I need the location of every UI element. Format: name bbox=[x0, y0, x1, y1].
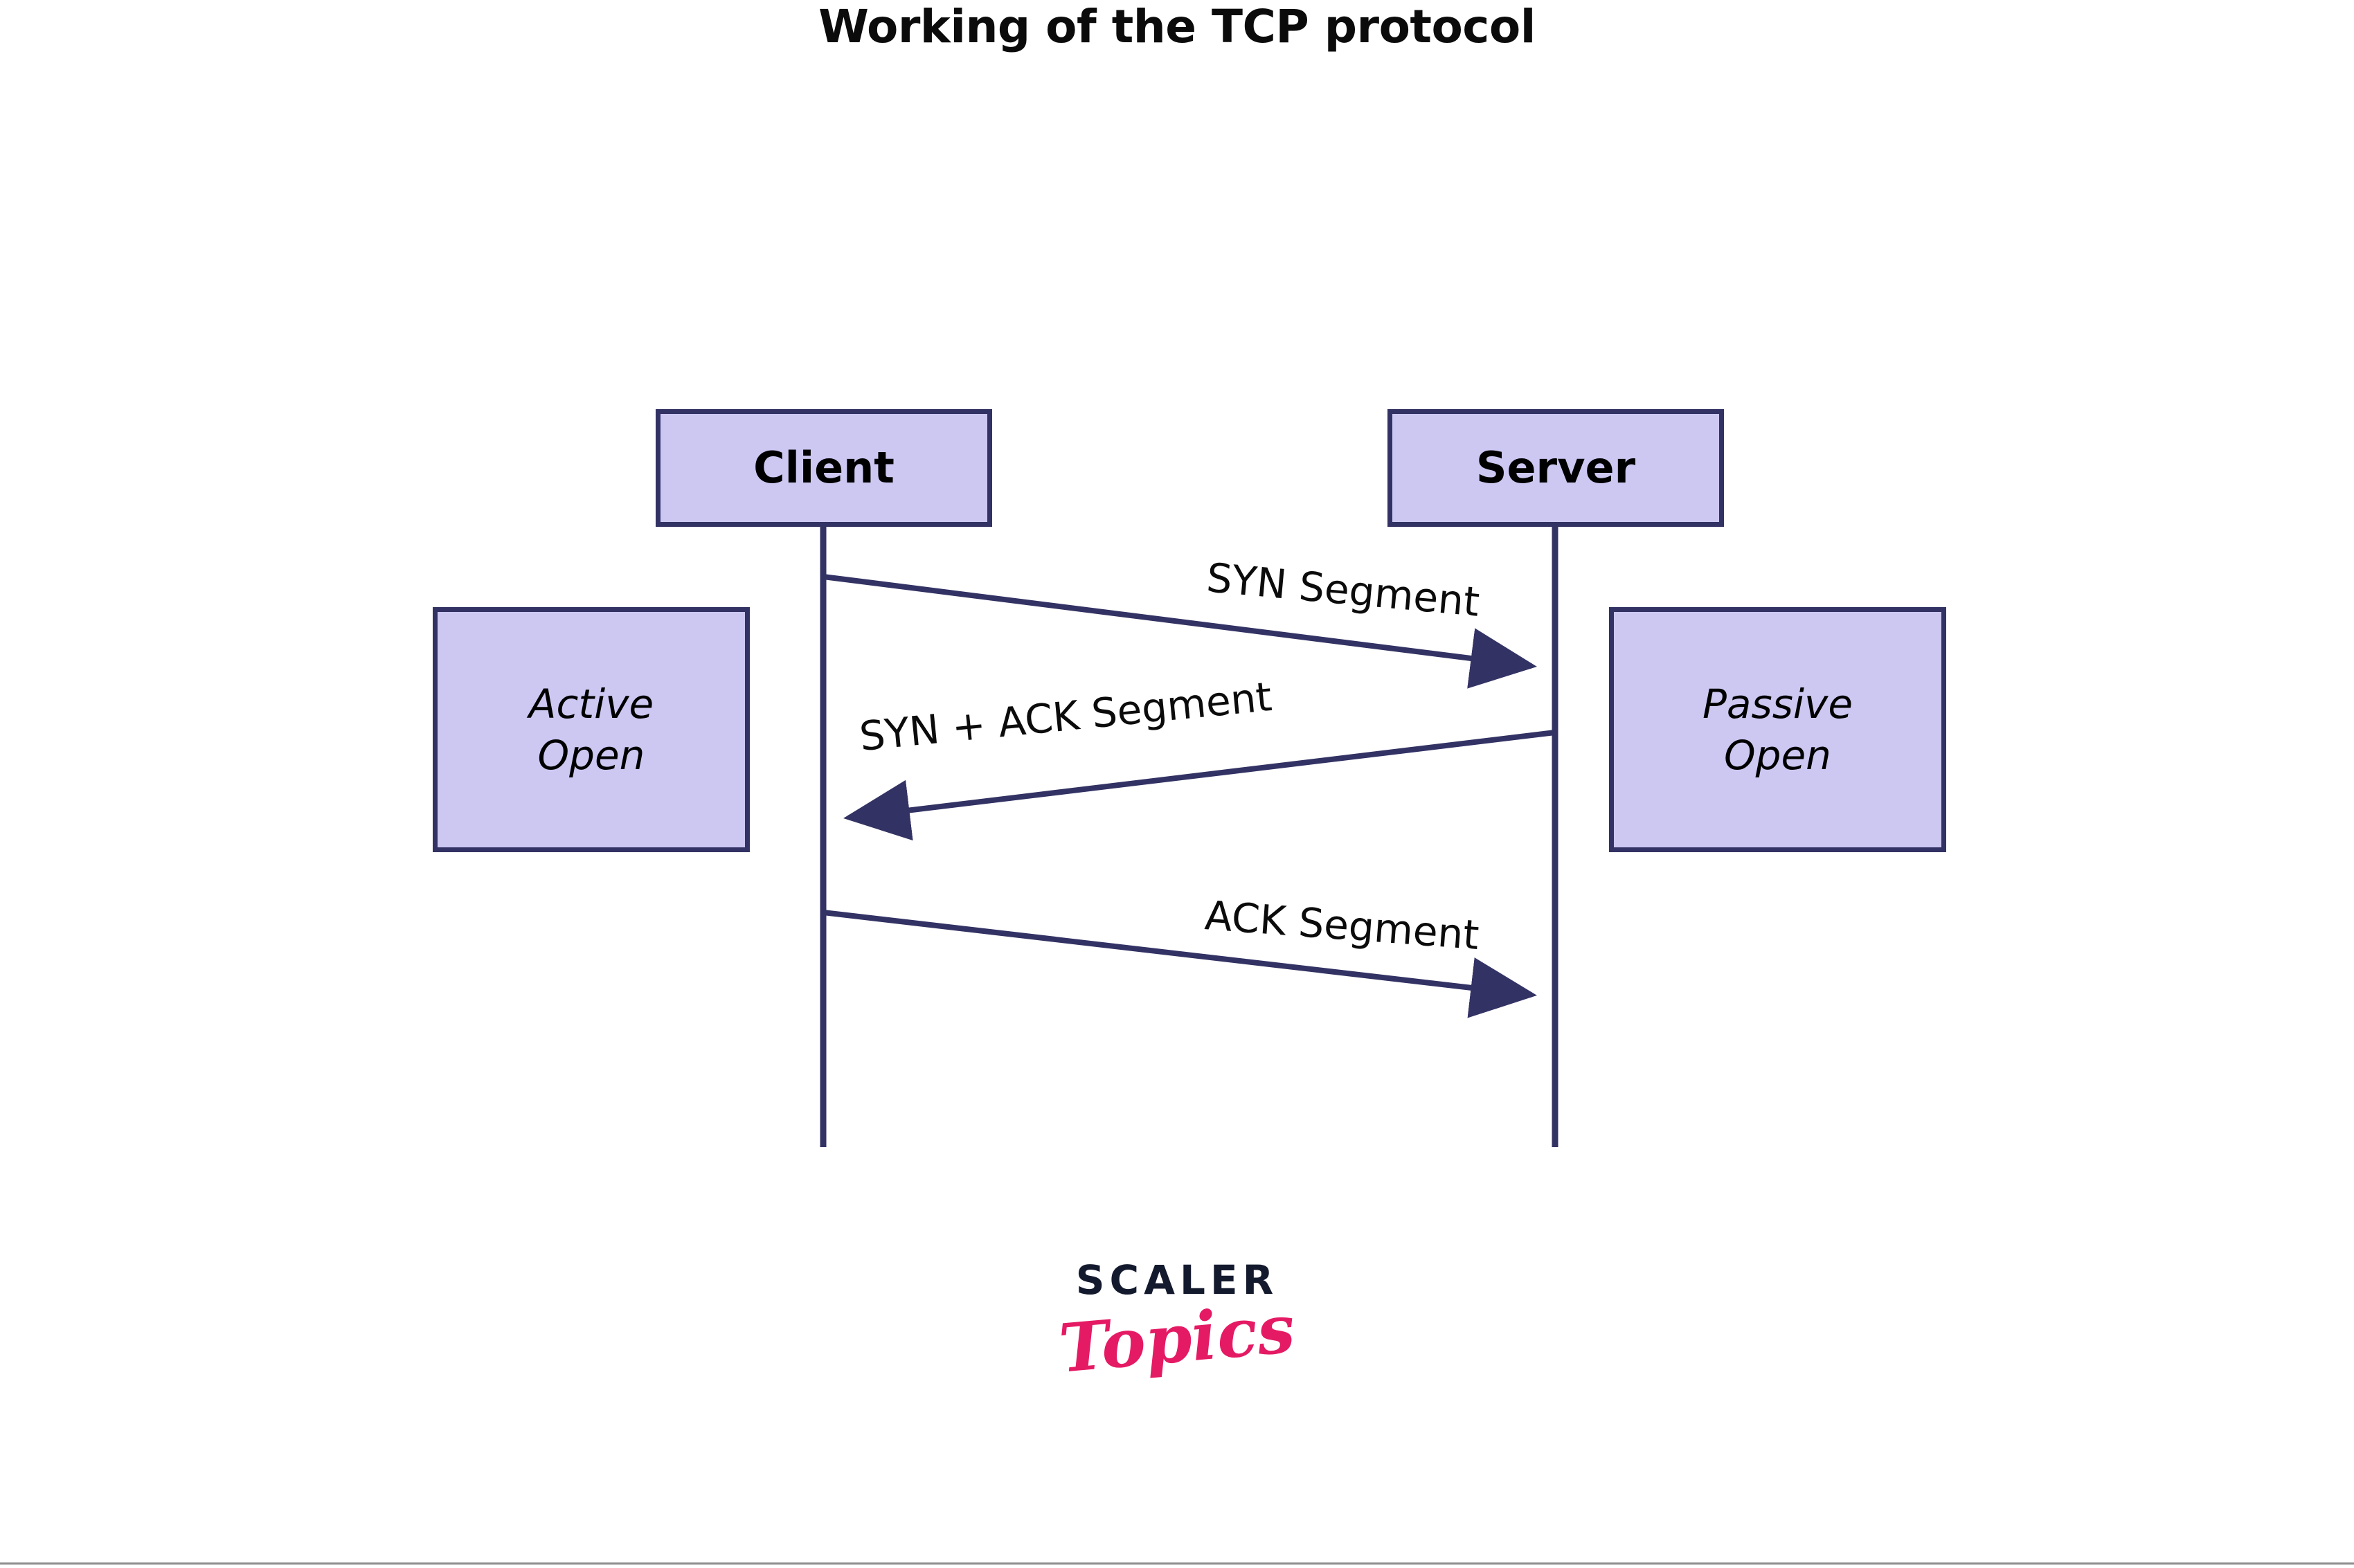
message-label-syn: SYN Segment bbox=[1205, 554, 1482, 626]
node-server[interactable]: Server bbox=[1387, 409, 1724, 527]
node-active-open-label: Active Open bbox=[529, 678, 654, 781]
node-active-open[interactable]: Active Open bbox=[433, 607, 750, 852]
node-passive-open[interactable]: Passive Open bbox=[1609, 607, 1946, 852]
message-label-ack: ACK Segment bbox=[1203, 892, 1481, 959]
node-client-label: Client bbox=[753, 444, 895, 492]
node-passive-open-label: Passive Open bbox=[1702, 678, 1853, 781]
tcp-handshake-diagram: Working of the TCP protocol Client Serve… bbox=[0, 0, 2354, 1568]
node-server-label: Server bbox=[1476, 444, 1635, 492]
page-title: Working of the TCP protocol bbox=[0, 0, 2354, 53]
message-label-syn-ack: SYN + ACK Segment bbox=[857, 673, 1274, 760]
bottom-divider bbox=[0, 1562, 2354, 1565]
node-client[interactable]: Client bbox=[656, 409, 992, 527]
logo-wordmark-topics: Topics bbox=[1, 1202, 2353, 1477]
scaler-topics-logo: SCALER Topics bbox=[0, 1260, 2354, 1374]
